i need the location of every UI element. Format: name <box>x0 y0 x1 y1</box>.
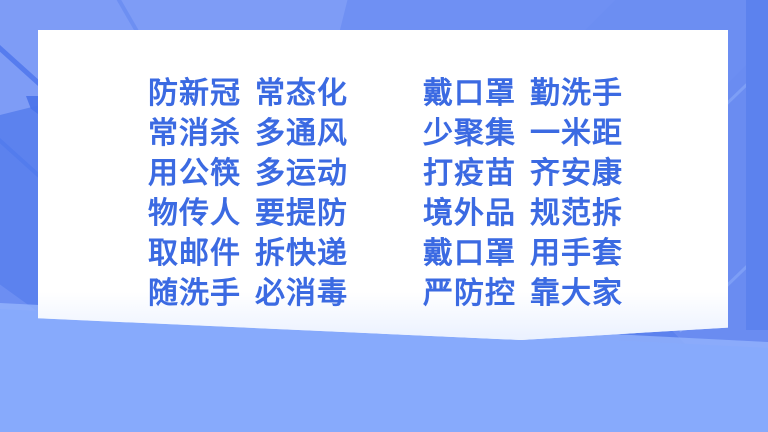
slogan-line: 物传人要提防 <box>110 194 395 234</box>
slogan-segment: 一米距 <box>530 114 623 154</box>
slogan-line: 随洗手必消毒 <box>110 274 395 314</box>
slogan-segment: 严防控 <box>423 274 516 314</box>
slogan-segment: 防新冠 <box>148 74 241 114</box>
slogan-line: 用公筷多运动 <box>110 154 395 194</box>
slogan-segment: 齐安康 <box>530 154 623 194</box>
slogan-segment: 物传人 <box>148 194 241 234</box>
slogan-line: 取邮件拆快递 <box>110 234 395 274</box>
background-notch-left <box>26 96 38 114</box>
slogan-line: 常消杀多通风 <box>110 114 395 154</box>
slogan-segment: 随洗手 <box>148 274 241 314</box>
slogan-line: 戴口罩勤洗手 <box>395 74 670 114</box>
slogan-line: 境外品规范拆 <box>395 194 670 234</box>
slogan-segment: 要提防 <box>255 194 348 234</box>
slogan-segment: 取邮件 <box>148 234 241 274</box>
slogan-segment: 必消毒 <box>255 274 348 314</box>
slogan-segment: 戴口罩 <box>423 234 516 274</box>
background-right-strip <box>746 0 768 330</box>
slogan-segment: 多运动 <box>255 154 348 194</box>
slogan-segment: 戴口罩 <box>423 74 516 114</box>
slogan-grid: 防新冠常态化 戴口罩勤洗手 常消杀多通风 少聚集一米距 用公筷多运动 打疫苗齐安… <box>110 74 670 314</box>
slogan-segment: 规范拆 <box>530 194 623 234</box>
slogan-segment: 常消杀 <box>148 114 241 154</box>
slogan-segment: 用公筷 <box>148 154 241 194</box>
slogan-segment: 勤洗手 <box>530 74 623 114</box>
slogan-line: 戴口罩用手套 <box>395 234 670 274</box>
poster-canvas: 防新冠常态化 戴口罩勤洗手 常消杀多通风 少聚集一米距 用公筷多运动 打疫苗齐安… <box>0 0 768 432</box>
slogan-line: 防新冠常态化 <box>110 74 395 114</box>
slogan-line: 打疫苗齐安康 <box>395 154 670 194</box>
slogan-segment: 少聚集 <box>423 114 516 154</box>
slogan-line: 少聚集一米距 <box>395 114 670 154</box>
slogan-line: 严防控靠大家 <box>395 274 670 314</box>
slogan-segment: 常态化 <box>255 74 348 114</box>
slogan-segment: 境外品 <box>423 194 516 234</box>
slogan-segment: 用手套 <box>530 234 623 274</box>
slogan-segment: 打疫苗 <box>423 154 516 194</box>
slogan-segment: 靠大家 <box>530 274 623 314</box>
slogan-segment: 拆快递 <box>255 234 348 274</box>
slogan-segment: 多通风 <box>255 114 348 154</box>
